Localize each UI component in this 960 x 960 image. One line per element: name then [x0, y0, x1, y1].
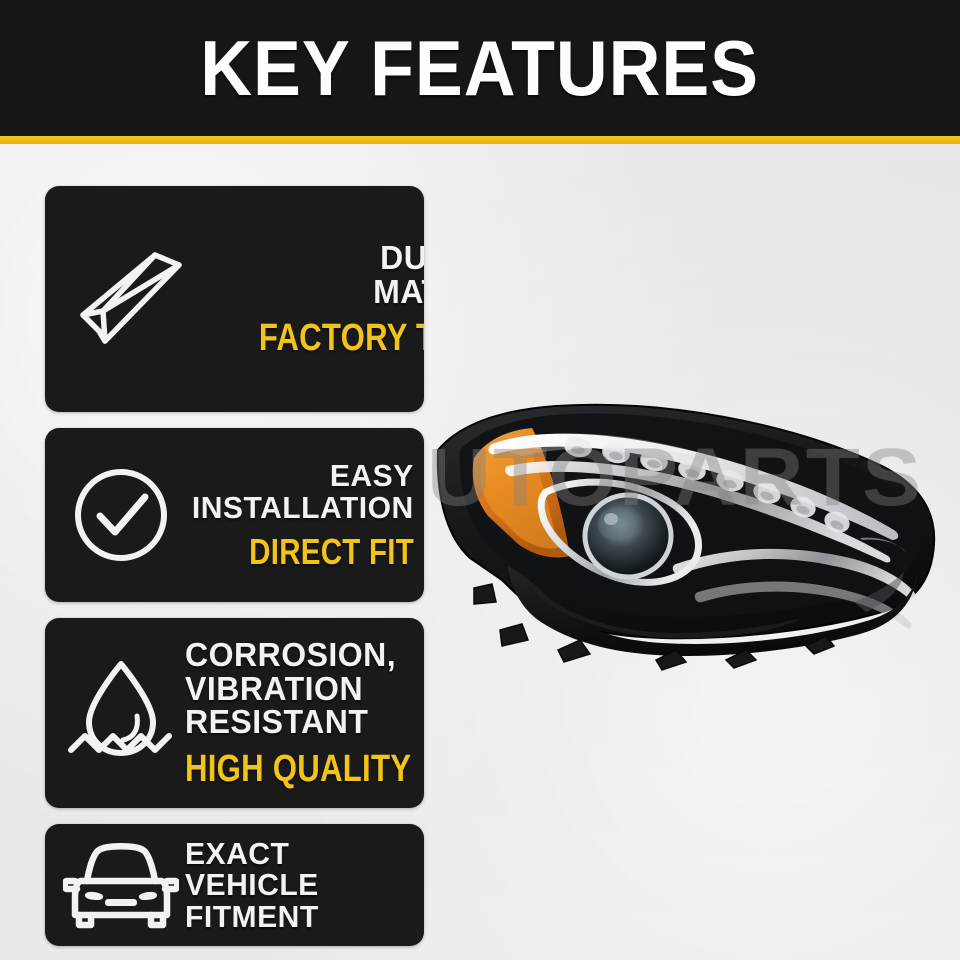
feature-title: EASY INSTALLATION	[192, 460, 414, 523]
feature-card-list: DURABLE MATERIAL FACTORY TESTED EASY INS…	[45, 186, 424, 946]
feature-title: CORROSION, VIBRATION RESISTANT	[185, 638, 396, 739]
feature-title: DURABLE MATERIAL	[374, 241, 424, 308]
feature-title: EXACT VEHICLE FITMENT	[185, 838, 319, 933]
feature-card-exact-vehicle-fitment[interactable]: EXACT VEHICLE FITMENT	[45, 824, 424, 946]
page-title: KEY FEATURES	[201, 29, 760, 107]
feature-card-text: DURABLE MATERIAL FACTORY TESTED	[197, 241, 424, 357]
metal-ingot-icon	[57, 235, 197, 363]
key-features-graphic: KEY FEATURES	[0, 0, 960, 960]
header-bar: KEY FEATURES	[0, 0, 960, 136]
feature-card-durable-material[interactable]: DURABLE MATERIAL FACTORY TESTED	[45, 186, 424, 412]
water-drop-waves-icon	[57, 652, 185, 774]
car-front-icon	[57, 837, 185, 933]
headlight-assembly-illustration	[430, 388, 950, 688]
feature-subtitle: DIRECT FIT	[249, 534, 414, 570]
check-circle-icon	[57, 459, 185, 571]
product-image	[430, 388, 950, 688]
feature-card-text: EXACT VEHICLE FITMENT	[185, 838, 410, 933]
feature-subtitle: FACTORY TESTED	[259, 319, 424, 357]
feature-card-easy-installation[interactable]: EASY INSTALLATION DIRECT FIT	[45, 428, 424, 602]
header-accent-rule	[0, 136, 960, 144]
feature-card-text: CORROSION, VIBRATION RESISTANT HIGH QUAL…	[185, 638, 424, 788]
feature-subtitle: HIGH QUALITY	[185, 750, 411, 788]
feature-card-corrosion-vibration-resistant[interactable]: CORROSION, VIBRATION RESISTANT HIGH QUAL…	[45, 618, 424, 808]
feature-card-text: EASY INSTALLATION DIRECT FIT	[185, 460, 414, 570]
